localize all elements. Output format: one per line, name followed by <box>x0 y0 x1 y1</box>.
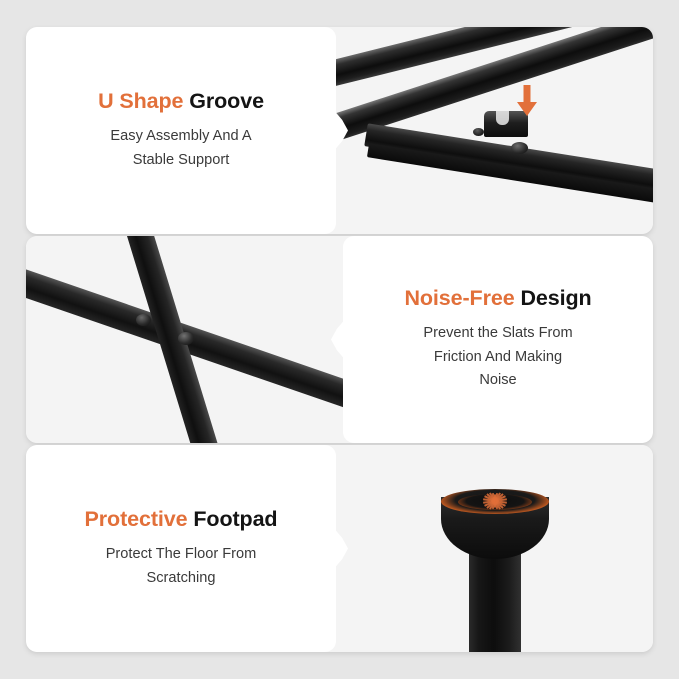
text-card-u-shape-groove: U Shape Groove Easy Assembly And A Stabl… <box>26 27 336 234</box>
feature-panel-u-shape-groove: U Shape Groove Easy Assembly And A Stabl… <box>26 27 653 234</box>
bolt-head-lower <box>178 332 194 345</box>
heading-rest-text: Footpad <box>188 507 278 531</box>
heading-accent-text: Protective <box>85 507 188 531</box>
feature-panel-noise-free-design: Noise-Free Design Prevent the Slats From… <box>26 236 653 443</box>
u-shape-slot <box>496 109 509 125</box>
description-line: Prevent the Slats From <box>423 325 572 341</box>
bolt-head <box>511 142 528 154</box>
description-line: Scratching <box>147 570 216 586</box>
bolt-head-upper <box>136 314 151 326</box>
feature-infographic: U Shape Groove Easy Assembly And A Stabl… <box>0 0 679 679</box>
heading-rest-text: Groove <box>183 89 264 113</box>
panel-heading-noise-free-design: Noise-Free Design <box>404 286 591 311</box>
heading-accent-text: Noise-Free <box>404 286 514 310</box>
feature-panel-protective-footpad: Protective Footpad Protect The Floor Fro… <box>26 445 653 652</box>
panel-description-protective-footpad: Protect The Floor From Scratching <box>106 543 257 590</box>
cross-beam-bolt-photo: Two black steel support beams crossing i… <box>26 236 343 443</box>
description-line: Noise <box>479 372 516 388</box>
text-card-protective-footpad: Protective Footpad Protect The Floor Fro… <box>26 445 336 652</box>
description-line: Easy Assembly And A <box>110 128 251 144</box>
description-line: Friction And Making <box>434 349 562 365</box>
text-card-noise-free-design: Noise-Free Design Prevent the Slats From… <box>343 236 653 443</box>
heading-accent-text: U Shape <box>98 89 183 113</box>
panel-description-noise-free-design: Prevent the Slats From Friction And Maki… <box>423 322 572 393</box>
heading-rest-text: Design <box>515 286 592 310</box>
description-line: Stable Support <box>133 152 230 168</box>
panel-heading-protective-footpad: Protective Footpad <box>85 507 278 532</box>
bolt-head-small <box>473 128 484 136</box>
u-groove-joint-photo: Black metal bed frame rails crossing at … <box>336 27 653 234</box>
orange-down-arrow-icon <box>516 85 538 117</box>
footpad-leg-photo: Black cylindrical bed frame leg topped w… <box>336 445 653 652</box>
panel-heading-u-shape-groove: U Shape Groove <box>98 89 264 114</box>
description-line: Protect The Floor From <box>106 546 257 562</box>
panel-description-u-shape-groove: Easy Assembly And A Stable Support <box>110 125 251 172</box>
